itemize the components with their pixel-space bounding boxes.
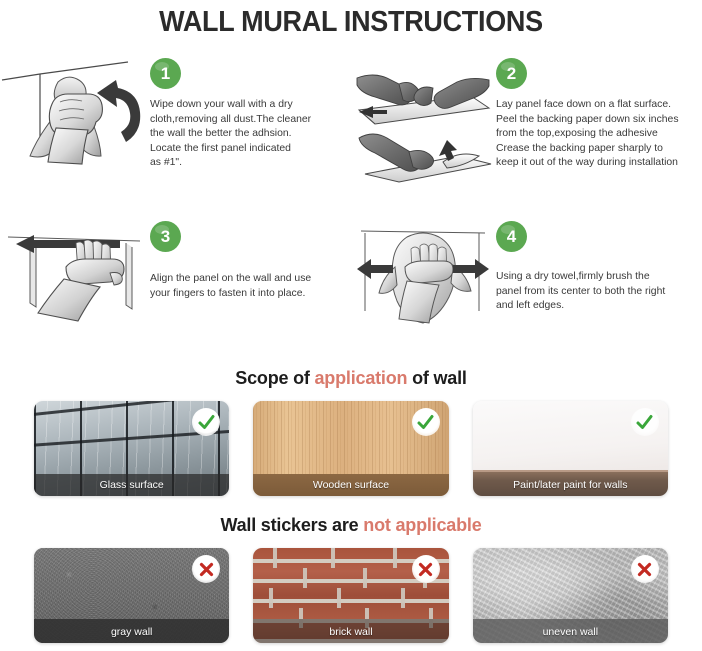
step-4-number: 4 (496, 221, 527, 252)
applicable-heading: Scope of application of wall (0, 368, 702, 389)
step-4-illustration (351, 215, 496, 325)
step-3-number: 3 (150, 221, 181, 252)
step-4-body: 4 Using a dry towel,firmly brush the pan… (496, 215, 690, 314)
gray-wall-card-label: gray wall (34, 621, 229, 643)
page-title: WALL MURAL INSTRUCTIONS (25, 0, 678, 39)
cross-mark-badge (631, 555, 659, 583)
step-3-body: 3 Align the panel on the wall and use yo… (150, 215, 328, 301)
applicable-heading-after: of wall (407, 368, 466, 388)
surface-card-brick-wall[interactable]: brick wall (253, 548, 448, 643)
step-1-number: 1 (150, 58, 181, 89)
surface-card-wooden[interactable]: Wooden surface (253, 401, 448, 496)
brick-joint (331, 548, 335, 568)
surface-card-gray-wall[interactable]: gray wall (34, 548, 229, 643)
hand-with-towel-both-arrows-icon (351, 215, 496, 325)
uneven-wall-card-label: uneven wall (473, 621, 668, 643)
check-mark-badge (412, 408, 440, 436)
step-1-text: Wipe down your wall with a dry cloth,rem… (150, 98, 325, 171)
step-1-illustration (0, 52, 150, 187)
wooden-card-label: Wooden surface (253, 474, 448, 496)
not-applicable-card-row: gray wall (0, 548, 702, 643)
check-mark-badge (631, 408, 659, 436)
wall-mural-instructions-page: WALL MURAL INSTRUCTIONS (0, 0, 702, 651)
step-3-illustration (0, 215, 150, 325)
applicable-card-row: Glass surface Wooden surface (0, 401, 702, 496)
steps-row-2: 3 Align the panel on the wall and use yo… (0, 215, 702, 325)
step-1-body: 1 Wipe down your wall with a dry cloth,r… (150, 52, 325, 171)
brick-joint (303, 568, 307, 588)
applicable-heading-before: Scope of (235, 368, 314, 388)
step-2-text: Lay panel face down on a flat surface. P… (496, 98, 702, 171)
check-icon (635, 413, 654, 432)
step-4: 4 Using a dry towel,firmly brush the pan… (351, 215, 702, 325)
check-icon (197, 413, 216, 432)
applicable-section: Scope of application of wall Glass surfa… (0, 368, 702, 496)
step-2-badge: 2 (496, 58, 527, 89)
step-1: 1 Wipe down your wall with a dry cloth,r… (0, 52, 351, 187)
step-2: 2 Lay panel face down on a flat surface.… (351, 52, 702, 187)
steps-row-1: 1 Wipe down your wall with a dry cloth,r… (0, 52, 702, 187)
step-2-body: 2 Lay panel face down on a flat surface.… (496, 52, 702, 171)
hand-aligning-panel-left-arrow-icon (0, 215, 150, 325)
not-applicable-heading-before: Wall stickers are (220, 515, 363, 535)
surface-card-glass[interactable]: Glass surface (34, 401, 229, 496)
surface-card-uneven-wall[interactable]: uneven wall (473, 548, 668, 643)
step-3: 3 Align the panel on the wall and use yo… (0, 215, 351, 325)
brick-joint (363, 568, 367, 588)
step-4-text: Using a dry towel,firmly brush the panel… (496, 270, 690, 314)
not-applicable-heading-accent: not applicable (363, 515, 481, 535)
cross-icon (417, 561, 434, 578)
step-3-badge: 3 (150, 221, 181, 252)
cross-icon (198, 561, 215, 578)
step-3-text: Align the panel on the wall and use your… (150, 272, 328, 301)
cross-icon (636, 561, 653, 578)
step-1-badge: 1 (150, 58, 181, 89)
paint-card-label: Paint/later paint for walls (473, 474, 668, 496)
not-applicable-section: Wall stickers are not applicable gray wa… (0, 515, 702, 643)
hands-peeling-backing-paper-icon (351, 52, 496, 187)
step-2-illustration (351, 52, 496, 187)
not-applicable-heading: Wall stickers are not applicable (0, 515, 702, 536)
steps-section: 1 Wipe down your wall with a dry cloth,r… (0, 52, 702, 325)
brick-joint (269, 588, 273, 608)
check-icon (416, 413, 435, 432)
brick-joint (401, 588, 405, 608)
glass-card-label: Glass surface (34, 474, 229, 496)
brick-joint (273, 548, 277, 568)
surface-card-paint[interactable]: Paint/later paint for walls (473, 401, 668, 496)
step-4-badge: 4 (496, 221, 527, 252)
applicable-heading-accent: application (315, 368, 408, 388)
step-2-number: 2 (496, 58, 527, 89)
brick-joint (393, 548, 397, 568)
hand-wiping-wall-corner-with-cloth-icon (0, 52, 150, 187)
cross-mark-badge (412, 555, 440, 583)
brick-wall-card-label: brick wall (253, 621, 448, 643)
brick-joint (337, 588, 341, 608)
